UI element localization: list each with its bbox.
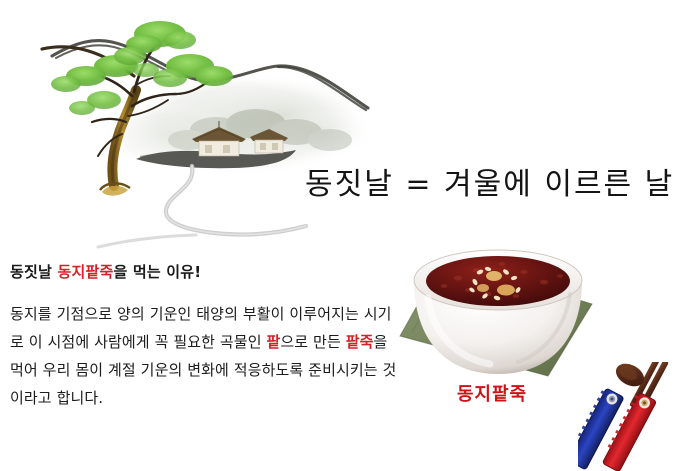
body-segment-2: 으로 만든	[280, 333, 345, 351]
article-heading: 동짓날 동지팥죽을 먹는 이유!	[10, 262, 402, 282]
korean-cutlery-illustration	[578, 362, 700, 471]
article-body: 동지를 기점으로 양의 기운인 태양의 부활이 이루어지는 시기로 이 시점에 …	[10, 300, 402, 412]
body-highlight-1: 팥	[266, 333, 280, 351]
poster-canvas: 동짓날 = 겨울에 이르른 날 동짓날 동지팥죽을 먹는 이유! 동지를 기점으…	[0, 0, 700, 471]
body-highlight-2: 팥죽	[346, 333, 374, 351]
winding-path	[98, 166, 306, 247]
heading-suffix: 을 먹는 이유!	[113, 263, 201, 281]
article-text-block: 동짓날 동지팥죽을 먹는 이유! 동지를 기점으로 양의 기운인 태양의 부활이…	[10, 262, 402, 412]
heading-prefix: 동짓날	[10, 263, 57, 281]
food-caption: 동지팥죽	[404, 380, 580, 406]
heading-highlight: 동지팥죽	[57, 263, 113, 281]
ink-wash-landscape-illustration	[20, 4, 380, 249]
brush-title: 동짓날 = 겨울에 이르른 날	[305, 166, 695, 204]
